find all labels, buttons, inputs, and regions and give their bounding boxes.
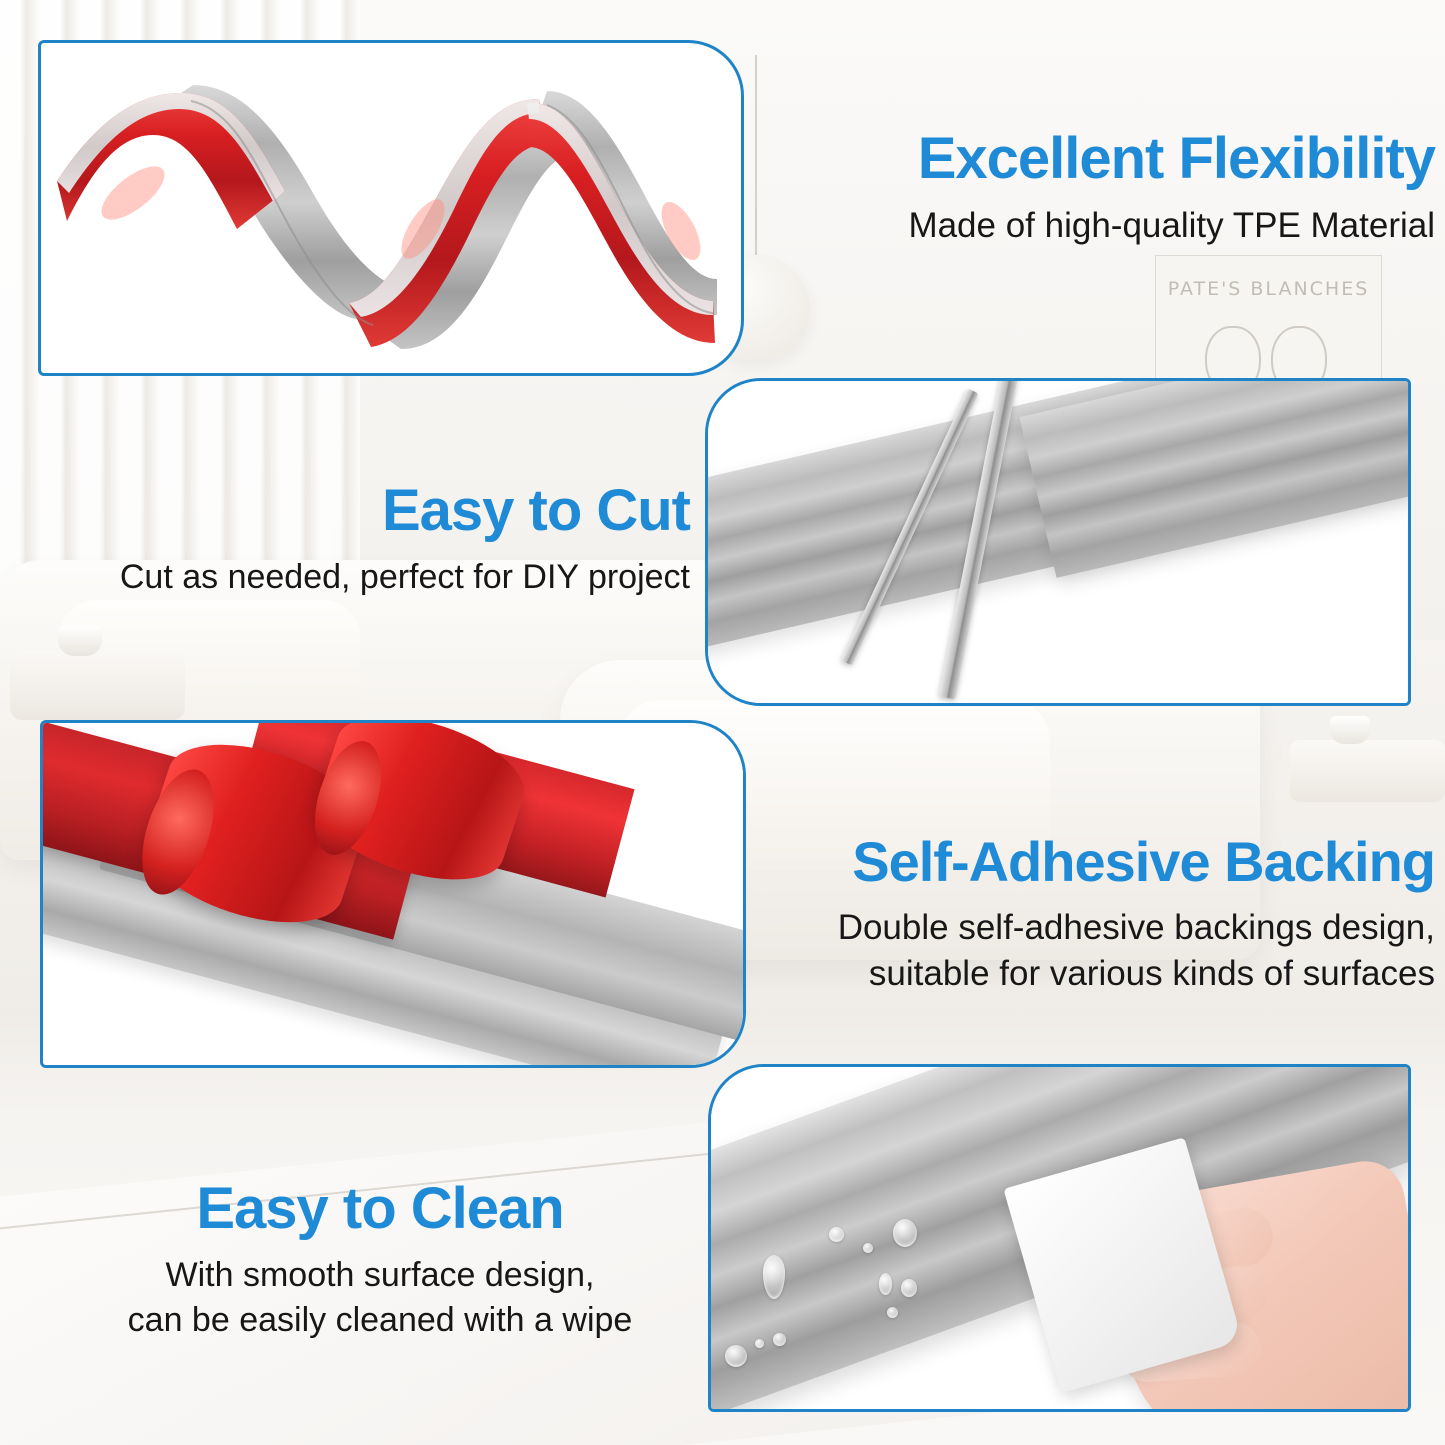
water-droplet: [901, 1279, 917, 1297]
water-droplet: [863, 1243, 873, 1253]
cutting-illustration: [708, 381, 1408, 703]
feature-description-clean-line1: With smooth surface design,: [60, 1253, 700, 1297]
water-droplet: [829, 1227, 844, 1242]
cleaning-illustration: [711, 1067, 1408, 1409]
feature-image-panel-clean: [708, 1064, 1411, 1412]
adhesive-illustration: [43, 723, 743, 1065]
feature-description-flexibility: Made of high-quality TPE Material: [745, 203, 1435, 249]
water-droplet: [755, 1339, 764, 1348]
twisted-strip-svg: [41, 43, 741, 373]
feature-description-adhesive-line2: suitable for various kinds of surfaces: [755, 951, 1435, 997]
cup-right: [1330, 716, 1370, 744]
side-table-right: [1290, 740, 1445, 802]
feature-heading-flexibility: Excellent Flexibility: [745, 128, 1435, 189]
feature-text-adhesive: Self-Adhesive Backing Double self-adhesi…: [755, 832, 1435, 996]
feature-description-cut: Cut as needed, perfect for DIY project: [30, 555, 690, 599]
feature-heading-adhesive: Self-Adhesive Backing: [755, 832, 1435, 891]
feature-description-adhesive-line1: Double self-adhesive backings design,: [755, 905, 1435, 951]
water-droplet: [725, 1345, 747, 1367]
infographic-canvas: PATE'S BLANCHES: [0, 0, 1445, 1445]
feature-heading-cut: Easy to Cut: [30, 480, 690, 541]
feature-text-cut: Easy to Cut Cut as needed, perfect for D…: [30, 480, 690, 600]
feature-image-panel-cut: [705, 378, 1411, 706]
cup-left: [58, 626, 102, 656]
poster-text: PATE'S BLANCHES: [1156, 278, 1381, 300]
water-droplet: [773, 1333, 786, 1346]
water-droplet: [879, 1273, 892, 1295]
feature-heading-clean: Easy to Clean: [60, 1178, 700, 1239]
water-droplet: [893, 1219, 917, 1247]
feature-description-clean-line2: can be easily cleaned with a wipe: [60, 1298, 700, 1342]
feature-image-panel-adhesive: [40, 720, 746, 1068]
twisted-strip-illustration: [41, 43, 741, 373]
feature-image-panel-flexibility: [38, 40, 744, 376]
feature-text-clean: Easy to Clean With smooth surface design…: [60, 1178, 700, 1342]
water-droplet: [887, 1307, 898, 1318]
grey-strip-secondary: [1019, 378, 1411, 578]
side-table-left: [10, 650, 185, 720]
feature-text-flexibility: Excellent Flexibility Made of high-quali…: [745, 128, 1435, 249]
